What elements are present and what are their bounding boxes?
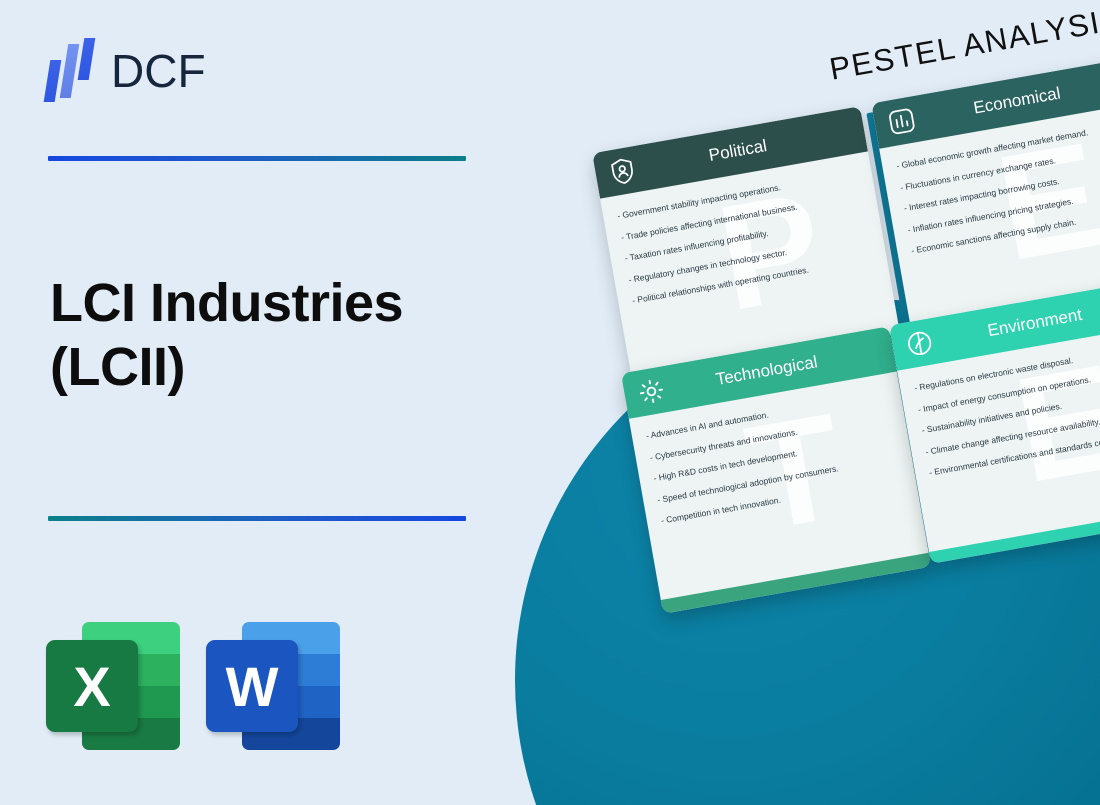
pestel-artwork: PESTEL ANALYSIS Political P - Government… [490,0,1100,805]
dcf-bars-logo-icon [45,38,97,104]
card-technological-bullets: - Advances in AI and automation. - Cyber… [645,390,902,525]
page-title: LCI Industries (LCII) [50,272,480,399]
excel-file-letter: X [46,640,138,732]
card-technological[interactable]: Technological T - Advances in AI and aut… [621,326,931,614]
pestel-analysis-page: DCF LCI Industries (LCII) X W PESTEL ANA… [0,0,1100,805]
word-file-letter: W [206,640,298,732]
card-political-bullets: - Government stability impacting operati… [617,170,874,305]
download-buttons: X W [46,622,340,750]
card-environment-bullets: - Regulations on electronic waste dispos… [914,342,1100,477]
divider-top [48,156,466,161]
brand-logo[interactable]: DCF [45,38,206,104]
brand-name: DCF [111,48,206,94]
card-economical-bullets: - Global economic growth affecting marke… [896,120,1100,255]
word-file-icon[interactable]: W [206,622,340,750]
divider-bottom [48,516,466,521]
excel-file-icon[interactable]: X [46,622,180,750]
